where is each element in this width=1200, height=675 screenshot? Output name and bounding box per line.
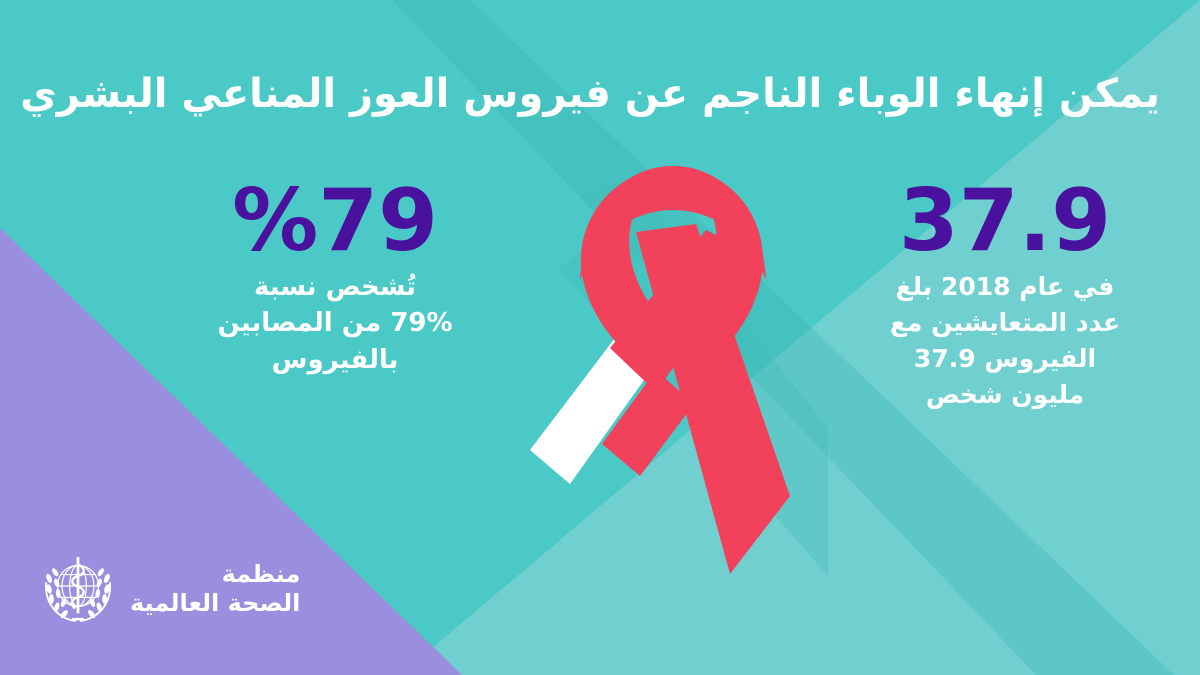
who-wordmark-line: منظمة (130, 560, 300, 589)
stat-caption-line: 79% من المصابين (150, 305, 520, 342)
stat-number-people-living-with-hiv: 37.9 (840, 180, 1170, 263)
stat-caption-line: عدد المتعايشين مع (840, 305, 1170, 341)
who-wordmark: منظمة الصحة العالمية (130, 560, 300, 619)
stat-caption-line: الفيروس 37.9 (840, 341, 1170, 377)
stat-caption-line: مليون شخص (840, 377, 1170, 413)
page-title: يمكن إنهاء الوباء الناجم عن فيروس العوز … (40, 71, 1160, 118)
stat-caption-people-living-with-hiv: في عام 2018 بلغ عدد المتعايشين مع الفيرو… (840, 269, 1170, 414)
awareness-ribbon-icon (518, 158, 828, 588)
stat-caption-line: بالفيروس (150, 342, 520, 379)
stat-caption-line: في عام 2018 بلغ (840, 269, 1170, 305)
stat-block-people-living-with-hiv: 37.9 في عام 2018 بلغ عدد المتعايشين مع ا… (840, 180, 1170, 414)
stat-block-diagnosed-share: %79 تُشخص نسبة 79% من المصابين بالفيروس (150, 180, 520, 379)
ribbon-knot (630, 318, 718, 364)
infographic-canvas: يمكن إنهاء الوباء الناجم عن فيروس العوز … (0, 0, 1200, 675)
who-logo: منظمة الصحة العالمية (40, 548, 322, 630)
who-wordmark-line: الصحة العالمية (130, 589, 300, 618)
who-emblem-icon (40, 551, 116, 627)
stat-caption-diagnosed-share: تُشخص نسبة 79% من المصابين بالفيروس (150, 269, 520, 380)
stat-number-diagnosed-share: %79 (150, 180, 520, 263)
stat-caption-line: تُشخص نسبة (150, 269, 520, 306)
